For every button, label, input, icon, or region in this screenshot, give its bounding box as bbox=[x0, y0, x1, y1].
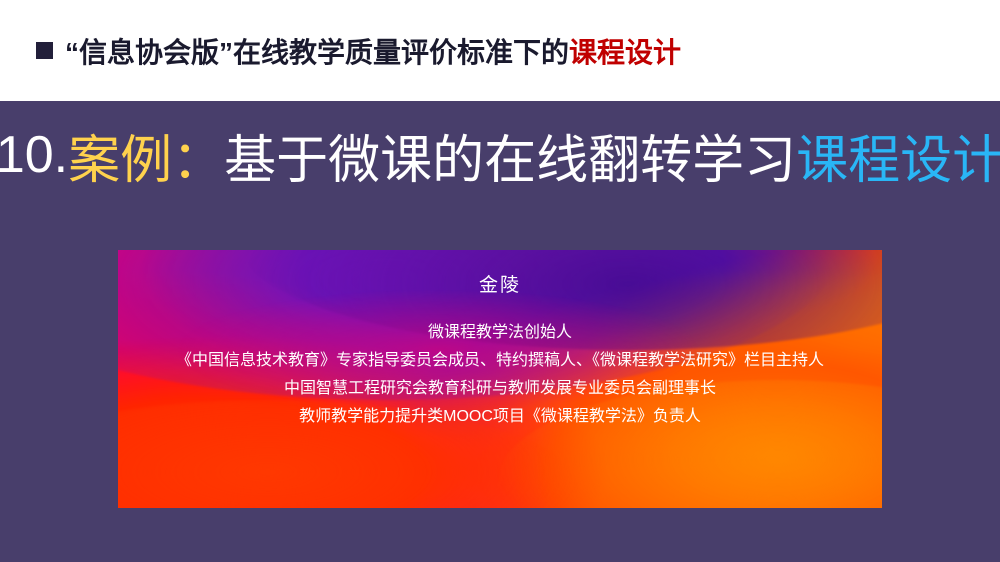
speaker-banner-image: 金陵 微课程教学法创始人 《中国信息技术教育》专家指导委员会成员、特约撰稿人、《… bbox=[118, 250, 882, 508]
title-keyword-case: 案例： bbox=[68, 118, 224, 193]
slide-canvas: “信息协会版”在线教学质量评价标准下的课程设计 10.案例： 基于微课的在线翻转… bbox=[0, 0, 1000, 562]
title-middle-text: 基于微课的在线翻转学习 bbox=[224, 118, 796, 193]
title-keyword-course-design: 课程设计 bbox=[796, 118, 1000, 193]
title-number: 10. bbox=[0, 125, 68, 185]
slide-header-inner: “信息协会版”在线教学质量评价标准下的课程设计 bbox=[0, 31, 681, 71]
banner-text-block: 金陵 微课程教学法创始人 《中国信息技术教育》专家指导委员会成员、特约撰稿人、《… bbox=[118, 250, 882, 508]
speaker-credential-line: 中国智慧工程研究会教育科研与教师发展专业委员会副理事长 bbox=[284, 375, 716, 403]
header-text-accent: 课程设计 bbox=[569, 37, 681, 68]
square-bullet-icon bbox=[36, 42, 53, 59]
page-title: 10.案例： 基于微课的在线翻转学习课程设计 bbox=[0, 112, 1000, 198]
speaker-credential-line: 《中国信息技术教育》专家指导委员会成员、特约撰稿人、《微课程教学法研究》栏目主持… bbox=[176, 347, 824, 375]
speaker-credential-line: 微课程教学法创始人 bbox=[428, 319, 572, 347]
speaker-credential-line: 教师教学能力提升类MOOC项目《微课程教学法》负责人 bbox=[299, 403, 701, 431]
slide-header-text: “信息协会版”在线教学质量评价标准下的课程设计 bbox=[65, 31, 681, 71]
slide-header-band: “信息协会版”在线教学质量评价标准下的课程设计 bbox=[0, 0, 1000, 101]
speaker-name: 金陵 bbox=[479, 270, 521, 297]
header-text-plain: “信息协会版”在线教学质量评价标准下的 bbox=[65, 37, 569, 68]
